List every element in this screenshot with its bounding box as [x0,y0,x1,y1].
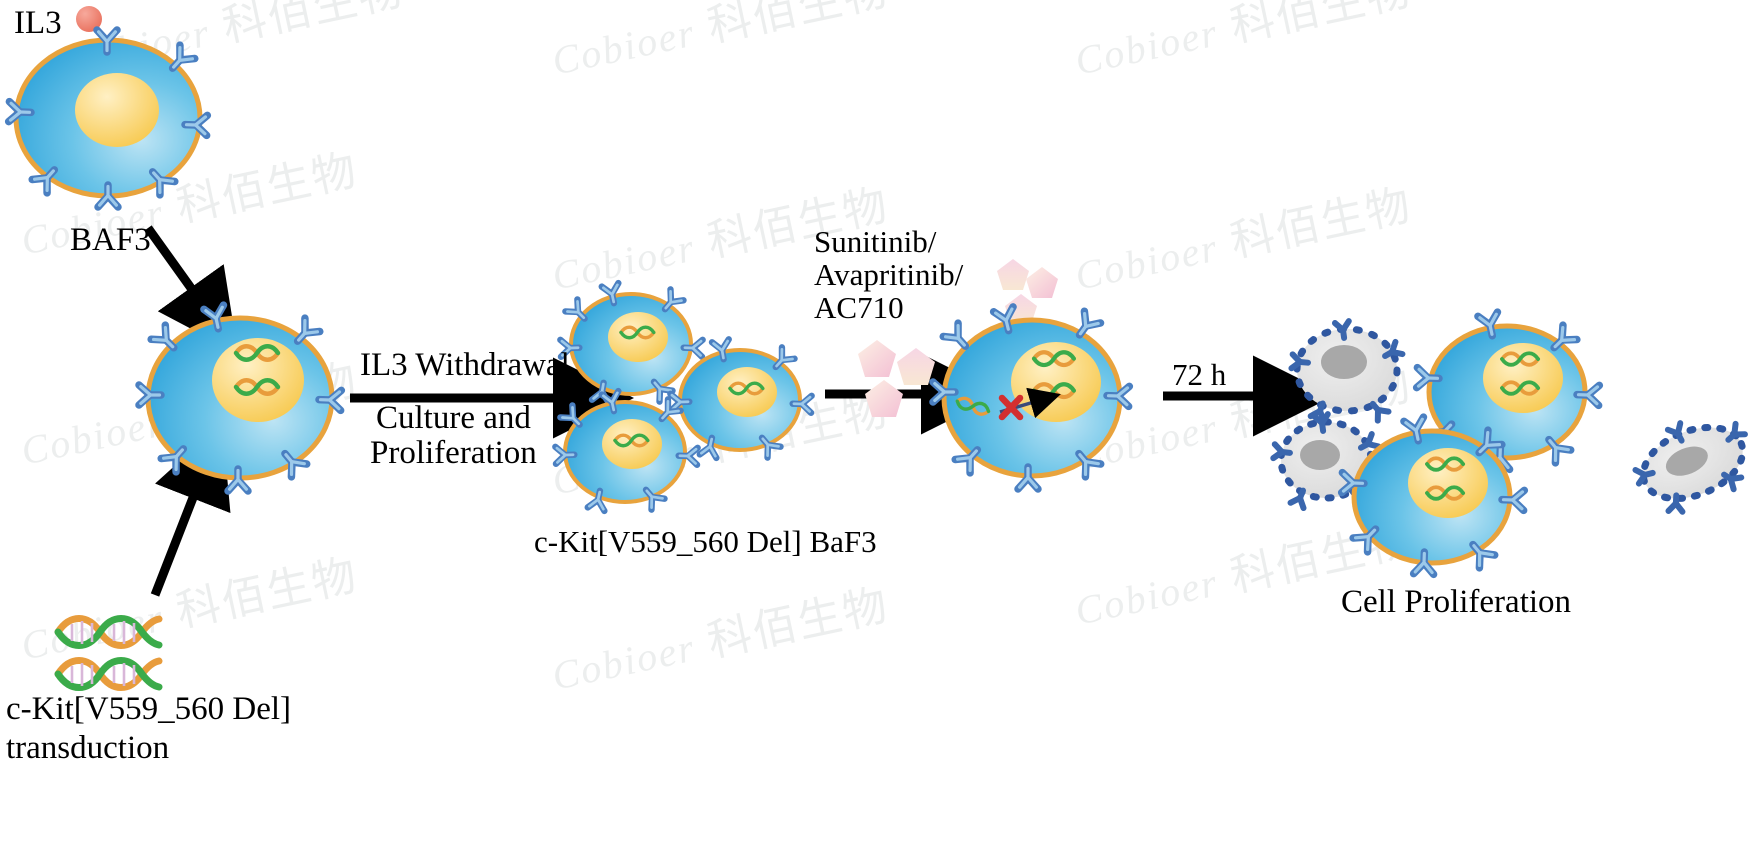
il3-withdrawal-label: IL3 Withdrawal [360,344,570,388]
apoptotic-cell [1291,321,1402,421]
ckit-baf3-label: c-Kit[V559_560 Del] BaF3 [534,522,877,563]
transduction-label-2: transduction [6,727,169,771]
outcome-cluster [1273,312,1763,574]
baf3-label: BAF3 [70,219,151,263]
cell-proliferation-label: Cell Proliferation [1341,581,1571,625]
figure-canvas: Cobioer科佰生物 Cobioer科佰生物 Cobioer科佰生物 Cobi… [0,0,1763,848]
drug-treated-cell [933,307,1129,489]
time-72h-label: 72 h [1172,355,1226,396]
baf3-cell [9,30,208,207]
ckit-cell [670,339,811,458]
apoptotic-cell [1624,402,1763,523]
transduction-label-1: c-Kit[V559_560 Del] [6,688,291,732]
ckit-cell [555,391,697,511]
drug-label-3: AC710 [814,288,904,329]
transduced-cell [139,305,341,491]
ckit-baf3-cluster [555,283,811,511]
culture-label-2: Proliferation [370,432,537,476]
il3-label: IL3 [14,2,62,46]
